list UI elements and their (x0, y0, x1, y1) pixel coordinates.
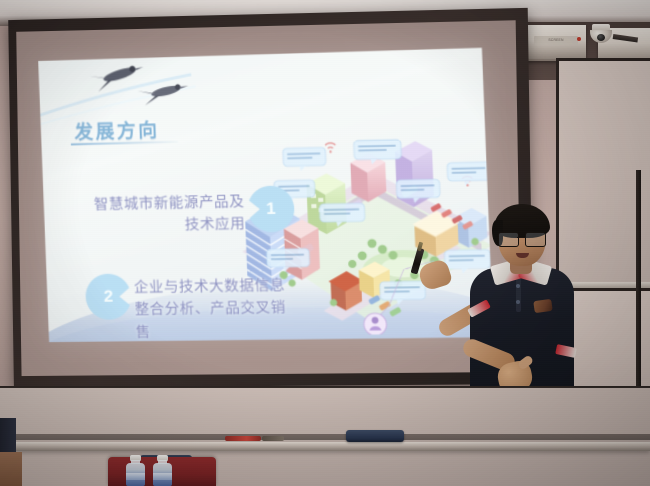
slide-bullet-1-text: 智慧城市新能源产品及技术应用 (93, 191, 246, 239)
shirt-chest-logo (533, 299, 552, 313)
grey-marker-icon (262, 436, 284, 441)
slide-bullet-2-text: 企业与技术大数据信息整合分析、产品交叉销售 (133, 275, 296, 342)
whiteboard-eraser-icon (346, 430, 404, 442)
camera-lens-icon (597, 34, 605, 41)
whiteboard-rail-shadow (0, 434, 650, 440)
water-bottle-right (152, 455, 173, 486)
bottle-label (153, 473, 172, 480)
shirt-button-bottom (516, 300, 520, 304)
slide-title: 发展方向 (74, 115, 160, 144)
roller-indicator-icon (577, 37, 581, 41)
roller-brand-label: SCREEN (534, 36, 578, 45)
slide-canvas: 发展方向 (38, 48, 493, 342)
glasses-icon (498, 232, 546, 245)
glasses-lens-left (498, 232, 519, 247)
red-marker-icon (225, 436, 261, 441)
glasses-lens-right (525, 232, 546, 247)
foreground-chair-seat (0, 452, 22, 486)
classroom-presentation-photo: SCREEN (0, 0, 650, 486)
projected-slide: 发展方向 (38, 48, 493, 342)
glasses-bridge (517, 237, 525, 238)
whiteboard-marker-tray (0, 442, 650, 451)
whiteboard-support-pole (636, 170, 641, 400)
shirt-button-top (516, 284, 520, 288)
water-bottle-left (125, 455, 146, 486)
user-avatar-bubble (364, 313, 387, 336)
bottle-label (126, 473, 145, 480)
